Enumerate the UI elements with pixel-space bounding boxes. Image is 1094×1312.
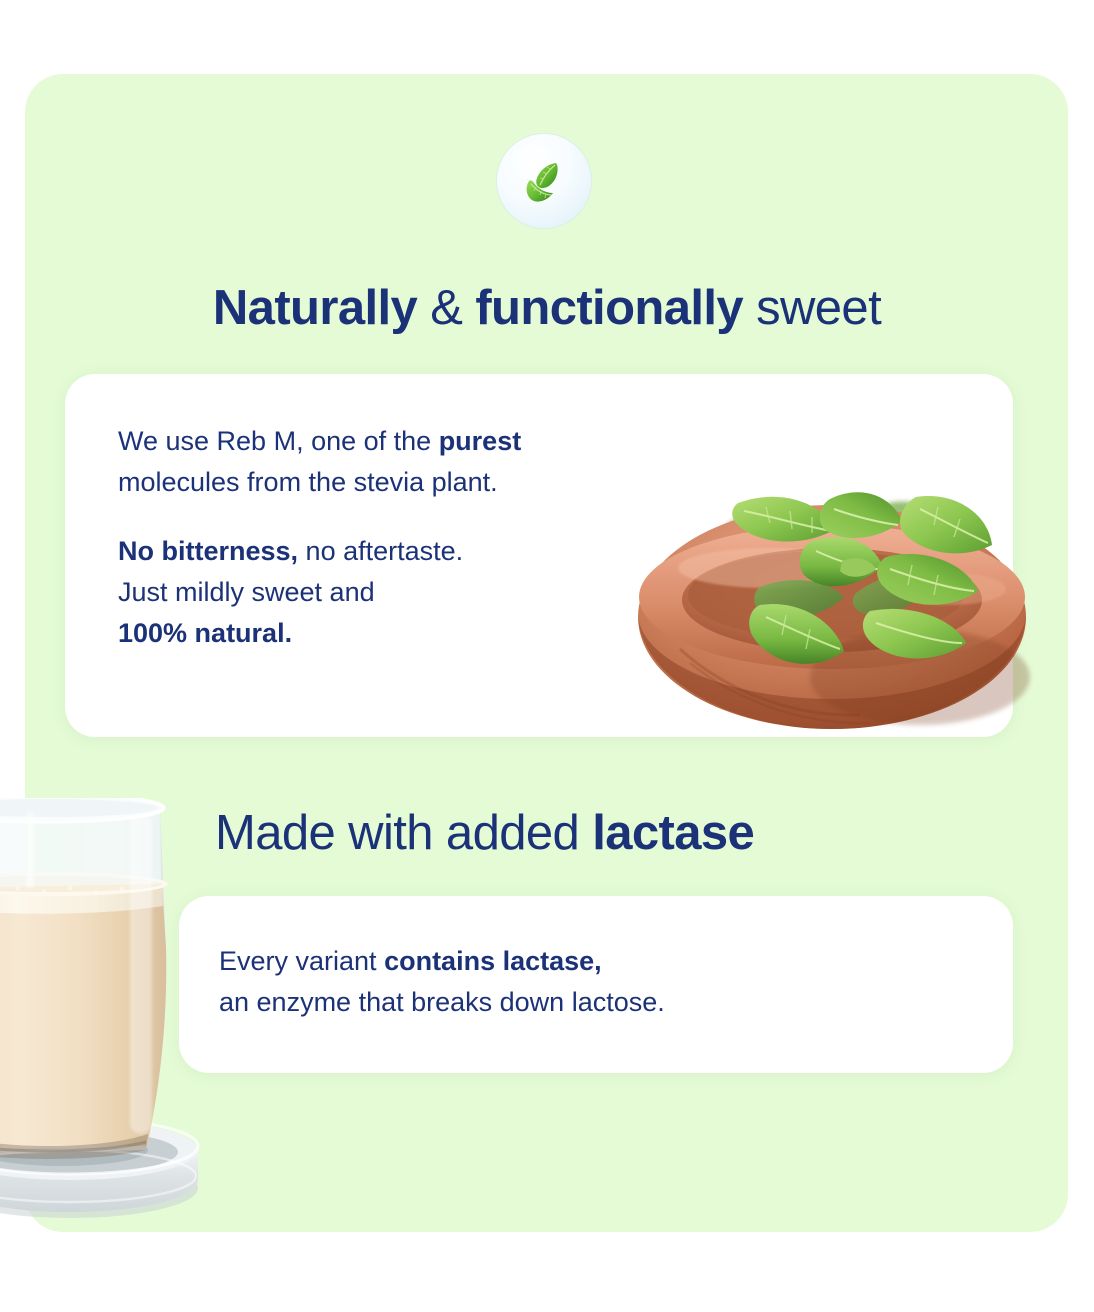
heading-1-bold-functionally: functionally [475, 281, 743, 335]
heading-2-regular: Made with added [215, 806, 592, 860]
heading-1-ampersand: & [417, 281, 475, 335]
lactase-line1-bold: contains lactase, [384, 946, 602, 976]
lactase-line2: an enzyme that breaks down lactose. [219, 987, 665, 1017]
stevia-para2-bold-100-natural: 100% natural. [118, 618, 292, 648]
heading-1-bold-naturally: Naturally [213, 281, 417, 335]
stevia-para1-line2: molecules from the stevia plant. [118, 467, 498, 497]
stevia-leaf-icon [497, 134, 591, 228]
lactase-card-copy: Every variant contains lactase, an enzym… [219, 941, 665, 1023]
stevia-para2-line2: Just mildly sweet and [118, 577, 375, 607]
page-title-lactase: Made with added lactase [215, 804, 754, 862]
lactase-line1-regular: Every variant [219, 946, 384, 976]
heading-2-bold-lactase: lactase [592, 806, 754, 860]
stevia-para1-line1-a: We use Reb M, one of the [118, 426, 439, 456]
heading-1-sweet: sweet [743, 281, 881, 335]
paragraph-spacer [118, 503, 521, 531]
page-title-natural-sweetness: Naturally & functionally sweet [0, 279, 1094, 337]
stevia-para1-bold-purest: purest [439, 426, 522, 456]
stevia-para2-bold-no-bitterness: No bitterness, [118, 536, 298, 566]
leaf-glyph [512, 149, 576, 213]
stevia-card-copy: We use Reb M, one of the purest molecule… [118, 421, 521, 654]
stevia-para2-no-aftertaste: no aftertaste. [298, 536, 463, 566]
